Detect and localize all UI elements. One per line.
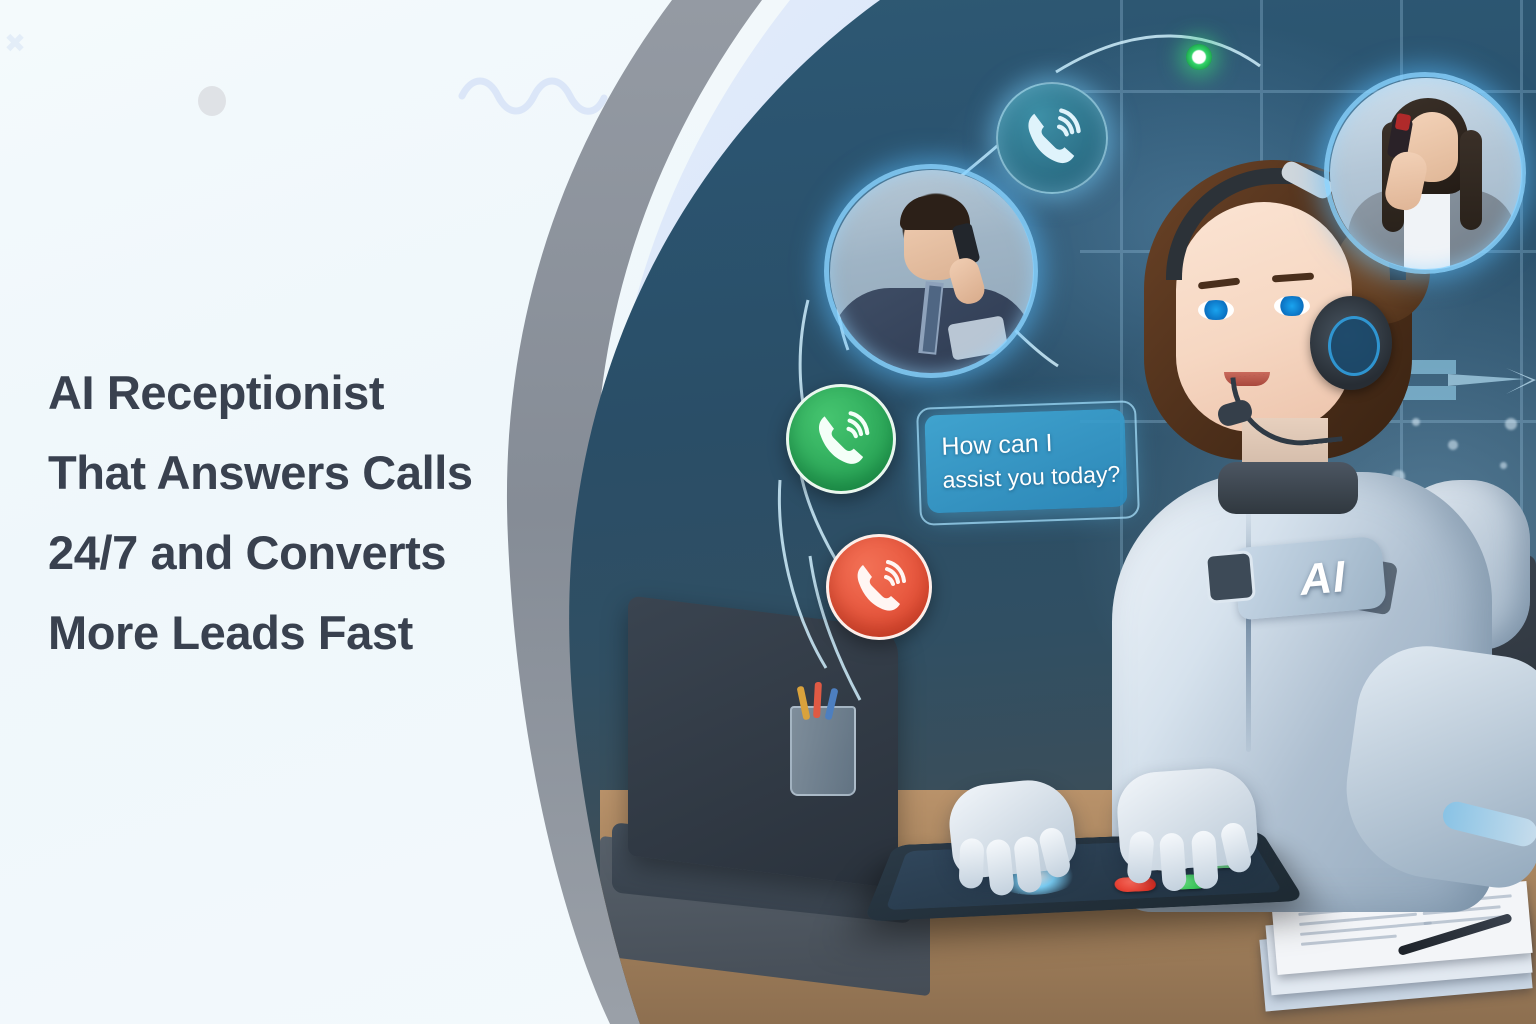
headset-earcup-inner xyxy=(1328,316,1380,376)
phone-icon xyxy=(808,406,875,473)
network-node-green xyxy=(1186,44,1212,70)
hero-banner: ✖ AI Receptionist That Answers Calls 24/… xyxy=(0,0,1536,1024)
speech-bubble-line-2: assist you today? xyxy=(942,458,1115,497)
phone-icon xyxy=(847,555,911,619)
phone-icon xyxy=(1017,103,1086,172)
phone-answer-icon-green[interactable] xyxy=(786,384,896,494)
phone-decline-icon-red[interactable] xyxy=(826,534,932,640)
phone-call-icon-teal[interactable] xyxy=(996,82,1108,194)
businessman-avatar-ring xyxy=(824,164,1038,378)
speech-bubble: How can I assist you today? xyxy=(924,409,1127,514)
businesswoman-avatar-ring xyxy=(1324,72,1526,274)
